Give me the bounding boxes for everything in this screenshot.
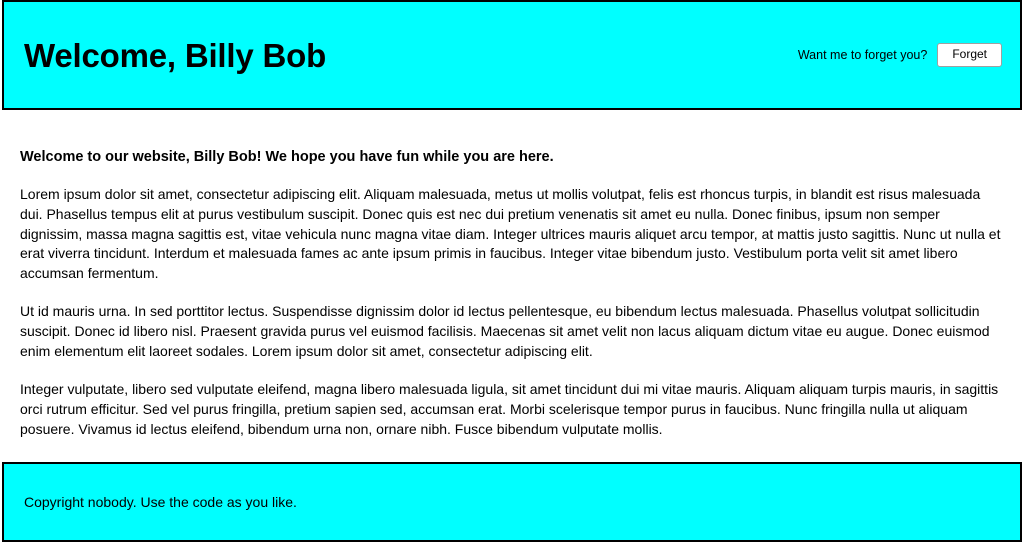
- content-heading: Welcome to our website, Billy Bob! We ho…: [20, 148, 1004, 167]
- page-root: Welcome, Billy Bob Want me to forget you…: [0, 0, 1024, 550]
- copyright-text: Copyright nobody. Use the code as you li…: [24, 494, 297, 510]
- body-paragraph: Ut id mauris urna. In sed porttitor lect…: [20, 302, 1004, 362]
- forget-prompt-label: Want me to forget you?: [798, 48, 927, 62]
- forget-button[interactable]: Forget: [937, 43, 1002, 66]
- main-content: Welcome to our website, Billy Bob! We ho…: [0, 110, 1024, 439]
- page-title: Welcome, Billy Bob: [24, 39, 326, 72]
- body-paragraph: Integer vulputate, libero sed vulputate …: [20, 380, 1004, 440]
- site-header: Welcome, Billy Bob Want me to forget you…: [2, 0, 1022, 110]
- site-footer: Copyright nobody. Use the code as you li…: [2, 462, 1022, 542]
- forget-group: Want me to forget you? Forget: [798, 43, 1002, 66]
- body-paragraph: Lorem ipsum dolor sit amet, consectetur …: [20, 185, 1004, 284]
